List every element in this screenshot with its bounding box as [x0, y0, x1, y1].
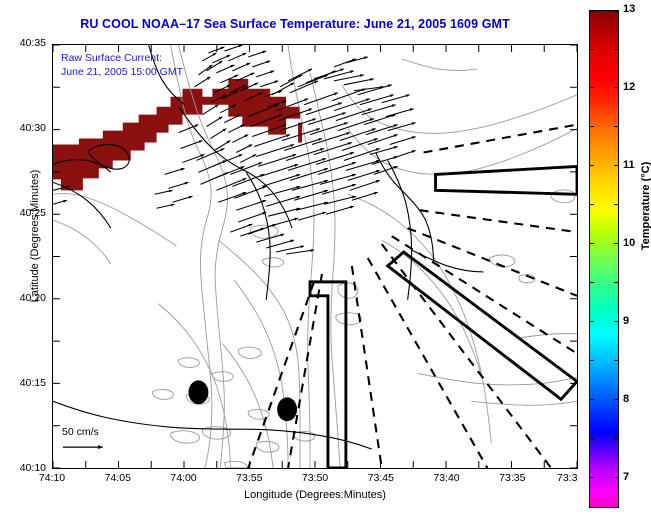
shipping-corridors-layer	[310, 166, 577, 468]
xtick-label-1: 74:05	[95, 472, 141, 484]
station-marker-1[interactable]	[188, 380, 208, 404]
xtick-label-4: 73:50	[292, 472, 338, 484]
map-plot-area[interactable]: Raw Surface Current: June 21, 2005 15:00…	[52, 44, 578, 469]
sst-warm-patch-layer	[53, 79, 302, 190]
xtick-label-2: 74:00	[161, 472, 207, 484]
xtick-label-6: 73:40	[424, 472, 470, 484]
xtick-label-7: 73:35	[489, 472, 535, 484]
station-markers-layer[interactable]	[188, 380, 297, 421]
figure-root: RU COOL NOAA–17 Sea Surface Temperature:…	[0, 0, 651, 515]
colorbar-title: Temperature (°C)	[640, 116, 651, 296]
colorbar-label-11: 11	[623, 159, 635, 171]
colorbar-label-12: 12	[623, 81, 635, 93]
colorbar	[589, 10, 619, 508]
radial-sector-lines-layer	[248, 125, 577, 468]
colorbar-label-10: 10	[623, 237, 635, 249]
colorbar-label-13: 13	[623, 3, 635, 15]
x-axis-label: Longitude (Degrees:Minutes)	[52, 489, 578, 501]
ytick-label-4: 40:15	[2, 377, 46, 389]
colorbar-label-7: 7	[623, 471, 629, 483]
y-axis-label: Latitude (Degrees:Minutes)	[29, 106, 41, 366]
bathymetry-contours-layer	[53, 45, 577, 468]
scalebar-label: 50 cm/s	[62, 426, 99, 438]
ytick-label-0: 40:35	[2, 37, 46, 49]
station-marker-2[interactable]	[277, 397, 297, 421]
ytick-label-5: 40:10	[2, 462, 46, 474]
annotation-line-1: Raw Surface Current:	[61, 51, 162, 65]
xtick-label-3: 73:55	[226, 472, 272, 484]
colorbar-label-9: 9	[623, 315, 629, 327]
xtick-label-8: 73:3	[557, 472, 591, 484]
page-title: RU COOL NOAA–17 Sea Surface Temperature:…	[0, 17, 590, 31]
colorbar-label-8: 8	[623, 393, 629, 405]
axis-tick-marks	[53, 45, 577, 468]
xtick-label-5: 73:45	[358, 472, 404, 484]
map-canvas	[53, 45, 577, 468]
annotation-line-2: June 21, 2005 15:00 GMT	[61, 65, 183, 79]
